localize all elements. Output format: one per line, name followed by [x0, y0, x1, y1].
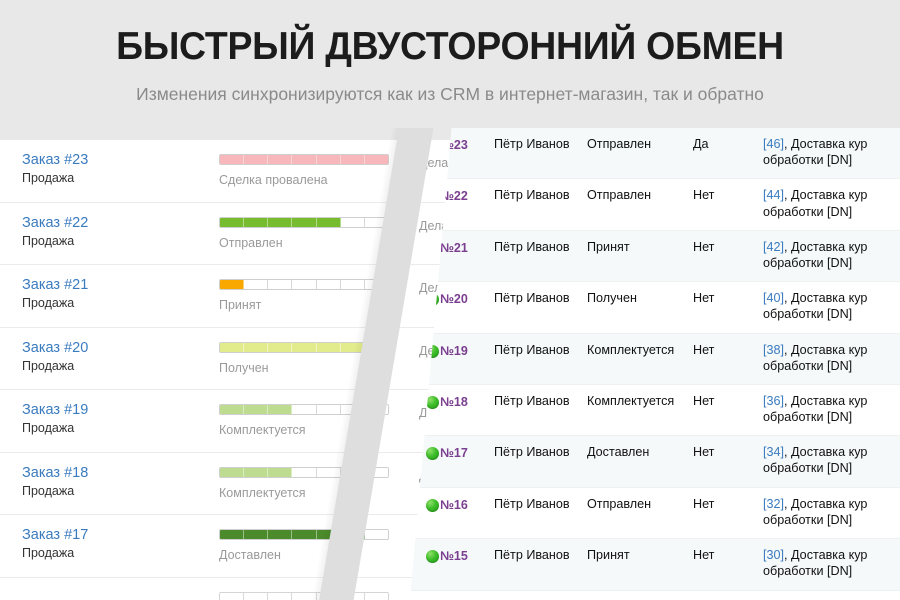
shop-delivery-line-1: [42], Доставка кур [763, 239, 900, 255]
crm-progress-segment [244, 280, 268, 289]
shop-order-row[interactable]: №15Пётр ИвановПринятНет[30], Доставка ку… [410, 539, 900, 590]
shop-order-status: Принят [587, 239, 693, 255]
shop-delivery-id-link[interactable]: [40] [763, 291, 784, 305]
crm-progress-segment [292, 343, 316, 352]
shop-order-paid: Да [693, 136, 763, 152]
shop-delivery-info: [30], Доставка куробработки [DN] [763, 547, 900, 579]
shop-order-paid: Нет [693, 547, 763, 563]
crm-progress-segment [244, 405, 268, 414]
shop-order-status: Комплектуется [587, 393, 693, 409]
crm-progress-segment [292, 468, 316, 477]
shop-customer-name: Пётр Иванов [494, 547, 587, 563]
crm-progress-segment [317, 343, 341, 352]
shop-delivery-info: [44], Доставка куробработки [DN] [763, 187, 900, 219]
green-status-dot-icon [426, 396, 439, 409]
shop-order-row[interactable]: №22Пётр ИвановОтправленНет[44], Доставка… [410, 179, 900, 230]
shop-order-paid: Нет [693, 187, 763, 203]
crm-stage-progress-bar[interactable] [219, 154, 389, 165]
shop-status-dot-cell [410, 547, 440, 563]
shop-delivery-line-2: обработки [DN] [763, 204, 900, 220]
shop-delivery-info: [46], Доставка куробработки [DN] [763, 136, 900, 168]
shop-order-row[interactable]: №23Пётр ИвановОтправленДа[46], Доставка … [410, 128, 900, 179]
shop-order-paid: Нет [693, 239, 763, 255]
crm-progress-segment [244, 468, 268, 477]
crm-progress-segment [317, 280, 341, 289]
crm-progress-segment [317, 155, 341, 164]
shop-customer-name: Пётр Иванов [494, 342, 587, 358]
shop-customer-name: Пётр Иванов [494, 290, 587, 306]
shop-delivery-line-2: обработки [DN] [763, 358, 900, 374]
shop-order-number[interactable]: №22 [440, 187, 494, 203]
crm-stage-progress-wrap: Сделка провалена [219, 154, 389, 188]
shop-delivery-line-1: [38], Доставка кур [763, 342, 900, 358]
crm-progress-segment [292, 530, 316, 539]
green-status-dot-icon [426, 499, 439, 512]
crm-progress-segment [268, 218, 292, 227]
crm-progress-segment [341, 280, 365, 289]
crm-progress-segment [317, 405, 341, 414]
shop-customer-name: Пётр Иванов [494, 187, 587, 203]
shop-delivery-info: [42], Доставка куробработки [DN] [763, 239, 900, 271]
shop-delivery-line-2: обработки [DN] [763, 460, 900, 476]
crm-progress-segment [220, 155, 244, 164]
crm-progress-segment [220, 530, 244, 539]
shop-order-status: Отправлен [587, 496, 693, 512]
crm-progress-segment [244, 530, 268, 539]
shop-order-paid: Нет [693, 393, 763, 409]
crm-progress-segment [220, 343, 244, 352]
crm-progress-segment [341, 218, 365, 227]
shop-orders-panel: №23Пётр ИвановОтправленДа[46], Доставка … [410, 128, 900, 600]
shop-delivery-id-link[interactable]: [38] [763, 343, 784, 357]
shop-order-status: Принят [587, 547, 693, 563]
shop-order-number[interactable]: №20 [440, 290, 494, 306]
shop-delivery-id-link[interactable]: [42] [763, 240, 784, 254]
crm-progress-segment [341, 155, 365, 164]
shop-delivery-line-2: обработки [DN] [763, 563, 900, 579]
shop-delivery-line-2: обработки [DN] [763, 306, 900, 322]
shop-delivery-line-1: [30], Доставка кур [763, 547, 900, 563]
shop-delivery-line-2: обработки [DN] [763, 152, 900, 168]
shop-delivery-id-link[interactable]: [46] [763, 137, 784, 151]
crm-progress-segment [292, 155, 316, 164]
shop-customer-name: Пётр Иванов [494, 136, 587, 152]
crm-progress-segment [268, 530, 292, 539]
shop-order-paid: Нет [693, 290, 763, 306]
shop-order-number[interactable]: №16 [440, 496, 494, 512]
shop-order-row[interactable]: №18Пётр ИвановКомплектуетсяНет[36], Дост… [410, 385, 900, 436]
page-title: БЫСТРЫЙ ДВУСТОРОННИЙ ОБМЕН [18, 0, 882, 68]
shop-delivery-info: [40], Доставка куробработки [DN] [763, 290, 900, 322]
crm-progress-segment [244, 343, 268, 352]
shop-delivery-line-1: [40], Доставка кур [763, 290, 900, 306]
shop-order-row[interactable]: №17Пётр ИвановДоставленНет[34], Доставка… [410, 436, 900, 487]
shop-delivery-id-link[interactable]: [36] [763, 394, 784, 408]
crm-progress-segment [365, 593, 388, 600]
shop-order-row[interactable]: №16Пётр ИвановОтправленНет[32], Доставка… [410, 488, 900, 539]
crm-progress-segment [292, 280, 316, 289]
shop-delivery-id-link[interactable]: [34] [763, 445, 784, 459]
crm-progress-segment [268, 280, 292, 289]
green-status-dot-icon [426, 550, 439, 563]
shop-order-row[interactable]: №21Пётр ИвановПринятНет[42], Доставка ку… [410, 231, 900, 282]
crm-progress-segment [220, 468, 244, 477]
crm-progress-segment [292, 218, 316, 227]
shop-customer-name: Пётр Иванов [494, 393, 587, 409]
shop-delivery-id-link[interactable]: [30] [763, 548, 784, 562]
crm-progress-segment [220, 280, 244, 289]
panels-area: Заказ #23ПродажаСделка проваленаДела отс… [0, 128, 900, 600]
shop-delivery-line-1: [44], Доставка кур [763, 187, 900, 203]
crm-progress-segment [268, 155, 292, 164]
shop-order-number[interactable]: №15 [440, 547, 494, 563]
crm-stage-label: Сделка провалена [219, 173, 389, 188]
crm-stage-label: Доставлен [219, 548, 389, 563]
shop-order-number[interactable]: №19 [440, 342, 494, 358]
shop-delivery-info: [38], Доставка куробработки [DN] [763, 342, 900, 374]
shop-delivery-info: [32], Доставка куробработки [DN] [763, 496, 900, 528]
shop-customer-name: Пётр Иванов [494, 239, 587, 255]
shop-order-status: Получен [587, 290, 693, 306]
shop-rows-container: №23Пётр ИвановОтправленДа[46], Доставка … [410, 128, 900, 591]
shop-delivery-info: [34], Доставка куробработки [DN] [763, 444, 900, 476]
shop-order-paid: Нет [693, 444, 763, 460]
crm-progress-segment [244, 155, 268, 164]
shop-order-row[interactable]: №20Пётр ИвановПолученНет[40], Доставка к… [410, 282, 900, 333]
shop-order-row[interactable]: №19Пётр ИвановКомплектуетсяНет[38], Дост… [410, 334, 900, 385]
crm-stage-progress-wrap [219, 592, 389, 600]
shop-delivery-line-1: [32], Доставка кур [763, 496, 900, 512]
crm-progress-segment [220, 405, 244, 414]
crm-progress-segment [365, 530, 388, 539]
shop-order-number[interactable]: №21 [440, 239, 494, 255]
shop-order-paid: Нет [693, 342, 763, 358]
crm-stage-progress-wrap: Отправлен [219, 217, 389, 251]
shop-delivery-line-2: обработки [DN] [763, 255, 900, 271]
crm-progress-segment [268, 405, 292, 414]
shop-order-status: Отправлен [587, 136, 693, 152]
crm-progress-segment [268, 343, 292, 352]
crm-stage-label: Отправлен [219, 236, 389, 251]
crm-progress-segment [317, 218, 341, 227]
page-header: БЫСТРЫЙ ДВУСТОРОННИЙ ОБМЕН Изменения син… [0, 0, 900, 128]
crm-progress-segment [220, 593, 244, 600]
crm-progress-segment [292, 405, 316, 414]
crm-progress-segment [244, 593, 268, 600]
crm-progress-segment [268, 593, 292, 600]
shop-order-status: Отправлен [587, 187, 693, 203]
screenshot-stage: БЫСТРЫЙ ДВУСТОРОННИЙ ОБМЕН Изменения син… [0, 0, 900, 600]
shop-delivery-line-1: [34], Доставка кур [763, 444, 900, 460]
shop-order-status: Комплектуется [587, 342, 693, 358]
shop-delivery-info: [36], Доставка куробработки [DN] [763, 393, 900, 425]
shop-delivery-id-link[interactable]: [32] [763, 497, 784, 511]
shop-delivery-line-2: обработки [DN] [763, 512, 900, 528]
shop-order-status: Доставлен [587, 444, 693, 460]
shop-order-number[interactable]: №18 [440, 393, 494, 409]
crm-progress-segment [244, 218, 268, 227]
shop-customer-name: Пётр Иванов [494, 444, 587, 460]
page-subtitle: Изменения синхронизируются как из CRM в … [0, 68, 900, 105]
shop-delivery-line-1: [36], Доставка кур [763, 393, 900, 409]
shop-order-paid: Нет [693, 496, 763, 512]
shop-delivery-id-link[interactable]: [44] [763, 188, 784, 202]
crm-progress-segment [268, 468, 292, 477]
shop-order-number[interactable]: №17 [440, 444, 494, 460]
shop-delivery-line-1: [46], Доставка кур [763, 136, 900, 152]
crm-stage-progress-bar[interactable] [219, 217, 389, 228]
shop-customer-name: Пётр Иванов [494, 496, 587, 512]
shop-delivery-line-2: обработки [DN] [763, 409, 900, 425]
green-status-dot-icon [426, 447, 439, 460]
crm-progress-segment [220, 218, 244, 227]
crm-stage-progress-bar[interactable] [219, 592, 389, 600]
